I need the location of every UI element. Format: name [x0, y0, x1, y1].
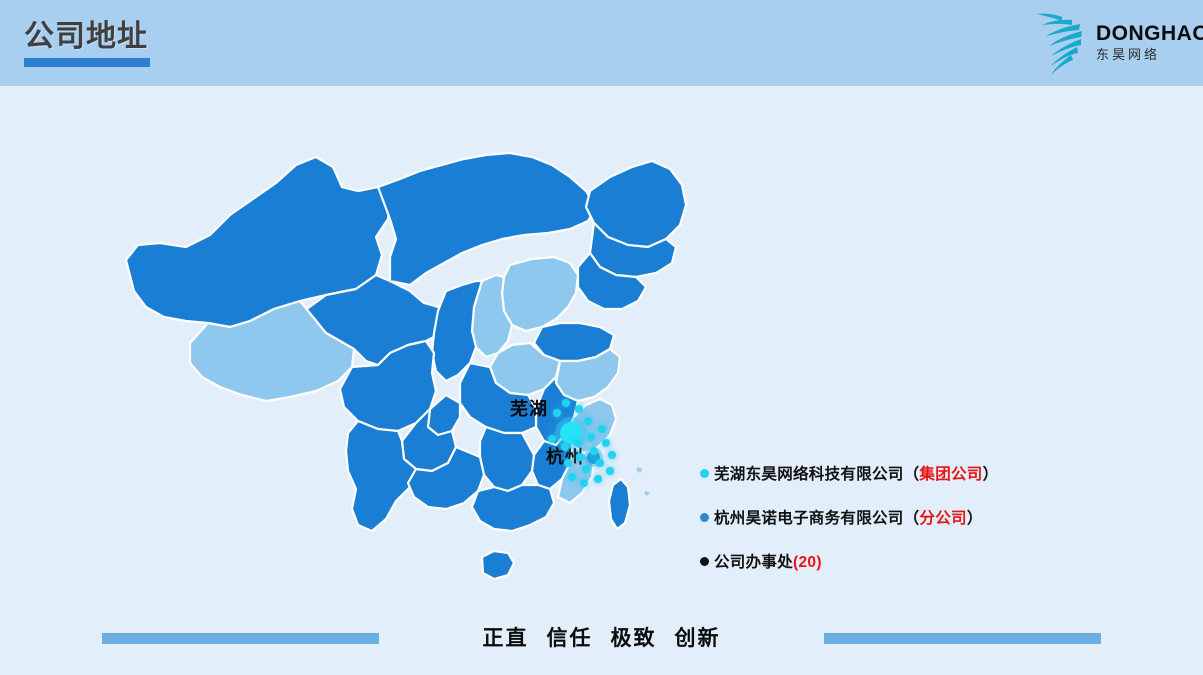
logo-text: DONGHAO 东昊网络 — [1096, 22, 1194, 63]
legend-label-branch-company: 杭州昊诺电子商务有限公司（分公司） — [714, 506, 983, 528]
legend-item-group-company: 芜湖东昊网络科技有限公司（集团公司） — [700, 462, 1130, 484]
legend-tag-branch-company: 分公司 — [919, 510, 966, 527]
map-marker-office[interactable] — [580, 479, 588, 487]
legend-item-offices: 公司办事处(20) — [700, 550, 1130, 572]
legend-label-group-company-after: ） — [983, 466, 999, 483]
map-marker-office[interactable] — [606, 467, 614, 475]
legend-label-branch-company-after: ） — [967, 510, 983, 527]
map-marker-office[interactable] — [562, 399, 570, 407]
map-marker-office[interactable] — [564, 459, 572, 467]
logo-name-cn: 东昊网络 — [1096, 46, 1194, 63]
map-marker-office[interactable] — [553, 409, 561, 417]
map-marker-office[interactable] — [594, 475, 602, 483]
province-hebei — [502, 257, 578, 331]
slogan-word: 信任 — [547, 627, 593, 650]
legend-label-group-company-text: 芜湖东昊网络科技有限公司（ — [714, 466, 919, 483]
page-title: 公司地址 — [24, 18, 150, 56]
slogan-word: 创新 — [675, 627, 721, 650]
slogan-word: 正直 — [483, 627, 529, 650]
legend-tag-group-company: 集团公司 — [919, 466, 982, 483]
footer-slogan: 正直信任极致创新 — [0, 622, 1203, 652]
city-label-wuhu: 芜湖 — [510, 395, 548, 421]
legend-label-branch-company-text: 杭州昊诺电子商务有限公司（ — [714, 510, 919, 527]
map-marker-office[interactable] — [561, 443, 569, 451]
map-marker-office[interactable] — [576, 453, 584, 461]
legend-label-offices: 公司办事处(20) — [714, 550, 822, 572]
legend-item-branch-company: 杭州昊诺电子商务有限公司（分公司） — [700, 506, 1130, 528]
province-guangdong — [472, 485, 554, 531]
slogan-word: 极致 — [611, 627, 657, 650]
map-marker-office[interactable] — [568, 473, 576, 481]
map-marker-office[interactable] — [574, 439, 582, 447]
title-underline — [24, 58, 150, 67]
map-marker-office[interactable] — [575, 405, 583, 413]
map-legend: 芜湖东昊网络科技有限公司（集团公司） 杭州昊诺电子商务有限公司（分公司） 公司办… — [700, 462, 1130, 594]
page-header: 公司地址 DONGHAO 东昊网络 — [0, 0, 1203, 86]
company-logo: DONGHAO 东昊网络 — [1020, 8, 1195, 78]
legend-dot-branch-company — [700, 513, 709, 522]
legend-label-group-company: 芜湖东昊网络科技有限公司（集团公司） — [714, 462, 998, 484]
map-marker-office[interactable] — [596, 459, 604, 467]
donghao-fan-logo-icon — [1024, 10, 1096, 76]
province-hunan — [480, 427, 534, 491]
province-taiwan — [609, 479, 630, 529]
map-marker-office[interactable] — [582, 465, 590, 473]
page-title-wrap: 公司地址 — [24, 18, 150, 67]
province-hainan — [482, 551, 514, 579]
china-map-svg — [90, 95, 730, 615]
china-map[interactable]: 芜湖 杭州 — [90, 95, 730, 615]
map-marker-office[interactable] — [602, 439, 610, 447]
map-marker-office[interactable] — [608, 451, 616, 459]
islet-1 — [636, 467, 643, 473]
islet-2 — [644, 491, 650, 496]
legend-tag-offices-count: (20) — [793, 554, 822, 571]
map-marker-office[interactable] — [587, 433, 595, 441]
legend-dot-group-company — [700, 469, 709, 478]
logo-name-en: DONGHAO — [1096, 22, 1194, 45]
legend-label-offices-text: 公司办事处 — [714, 554, 793, 571]
map-marker-office[interactable] — [548, 435, 556, 443]
map-marker-office[interactable] — [590, 447, 598, 455]
legend-dot-offices — [700, 557, 709, 566]
map-marker-office[interactable] — [598, 425, 606, 433]
map-marker-office[interactable] — [584, 417, 592, 425]
